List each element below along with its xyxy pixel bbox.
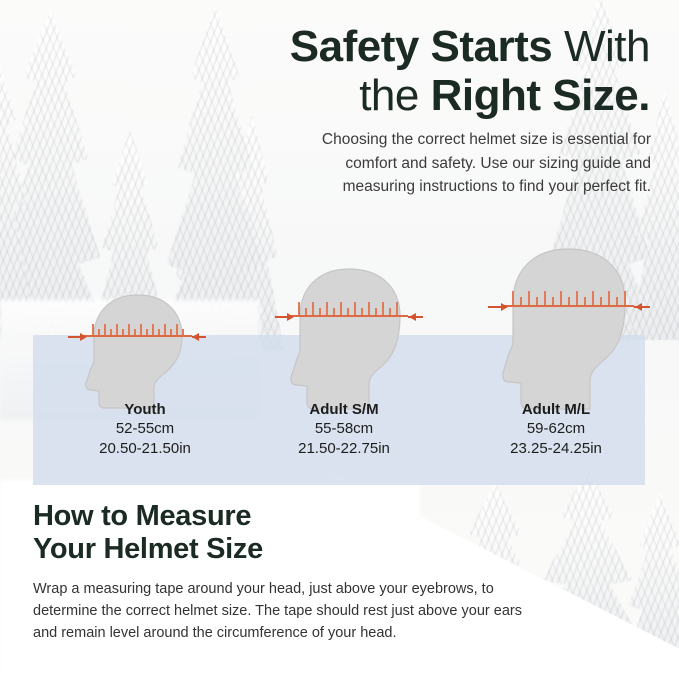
tape-tick [116,324,118,335]
size-column-youth: Youth 52-55cm 20.50-21.50in [55,400,235,459]
head-silhouette-icon [76,293,206,408]
instructions-body: Wrap a measuring tape around your head, … [33,578,523,644]
head-silhouette-icon [285,267,425,409]
arrow-left-icon [409,313,416,321]
tape-tick [361,308,363,315]
head-illustration-adult-ml [498,247,653,409]
tape-bar [82,335,192,337]
arrow-left-icon [635,303,642,311]
headline-bold-safety-starts: Safety Starts [290,22,553,71]
tape-tick [389,308,391,315]
size-cm: 55-58cm [254,419,434,439]
tape-tick [134,329,136,335]
tape-tick [536,297,538,305]
tape-tick [305,308,307,315]
tape-tick [584,297,586,305]
tape-tick [122,329,124,335]
size-cm: 52-55cm [55,419,235,439]
tape-tick [98,329,100,335]
tape-tick [544,291,546,305]
tape-tick [576,291,578,305]
tape-tick [182,329,184,335]
tape-bar [290,315,408,317]
tape-tick [146,329,148,335]
hero-subheading: Choosing the correct helmet size is esse… [305,128,651,199]
size-inches: 20.50-21.50in [55,439,235,459]
headline-line-1: Safety Starts With [180,22,650,71]
tape-tick [319,308,321,315]
tape-tick [333,308,335,315]
tape-tick [520,297,522,305]
tape-tick [568,297,570,305]
tape-tick [164,324,166,335]
size-name: Youth [55,400,235,419]
measuring-tape-icon [82,321,192,337]
tape-tick [340,302,342,315]
head-illustration-youth [76,293,206,408]
instructions-heading-line-1: How to Measure [33,500,433,533]
measuring-tape-icon [290,299,408,317]
headline-bold-right-size: Right Size. [431,71,650,120]
tape-tick [170,329,172,335]
arrow-left-icon [192,333,199,341]
tape-tick [552,297,554,305]
size-name: Adult S/M [254,400,434,419]
size-column-adult-ml: Adult M/L 59-62cm 23.25-24.25in [466,400,646,459]
instructions-heading: How to Measure Your Helmet Size [33,500,433,566]
tape-tick [560,291,562,305]
tape-tick [104,324,106,335]
tape-tick [92,324,94,335]
tape-tick [354,302,356,315]
headline-light-with: With [552,22,650,71]
tape-tick [616,297,618,305]
tape-tick [140,324,142,335]
tape-tick [368,302,370,315]
tape-tick [375,308,377,315]
tape-tick [608,291,610,305]
tape-tick [110,329,112,335]
headline-line-2: the Right Size. [180,71,650,120]
tape-tick [176,324,178,335]
measuring-tape-icon [504,287,634,307]
tape-tick [347,308,349,315]
arrow-right-icon [80,333,87,341]
size-name: Adult M/L [466,400,646,419]
tape-tick [624,291,626,305]
size-column-adult-sm: Adult S/M 55-58cm 21.50-22.75in [254,400,434,459]
tape-tick [600,297,602,305]
tape-tick [128,324,130,335]
tape-bar [504,305,634,307]
size-cm: 59-62cm [466,419,646,439]
instructions-heading-line-2: Your Helmet Size [33,533,433,566]
tape-tick [152,324,154,335]
tape-tick [312,302,314,315]
tape-tick [528,291,530,305]
tape-tick [382,302,384,315]
page-title: Safety Starts With the Right Size. [180,22,650,120]
tape-tick [326,302,328,315]
tape-tick [158,329,160,335]
headline-light-the: the [359,71,430,120]
head-size-illustrations [0,245,679,405]
head-silhouette-icon [498,247,653,409]
tape-tick [396,302,398,315]
tape-tick [298,302,300,315]
arrow-right-icon [287,313,294,321]
helmet-sizing-infographic: Safety Starts With the Right Size. Choos… [0,0,679,679]
size-inches: 21.50-22.75in [254,439,434,459]
size-inches: 23.25-24.25in [466,439,646,459]
tape-tick [592,291,594,305]
arrow-right-icon [501,303,508,311]
tape-tick [512,291,514,305]
head-illustration-adult-sm [285,267,425,407]
size-label-group: Youth 52-55cm 20.50-21.50in Adult S/M 55… [0,400,679,480]
